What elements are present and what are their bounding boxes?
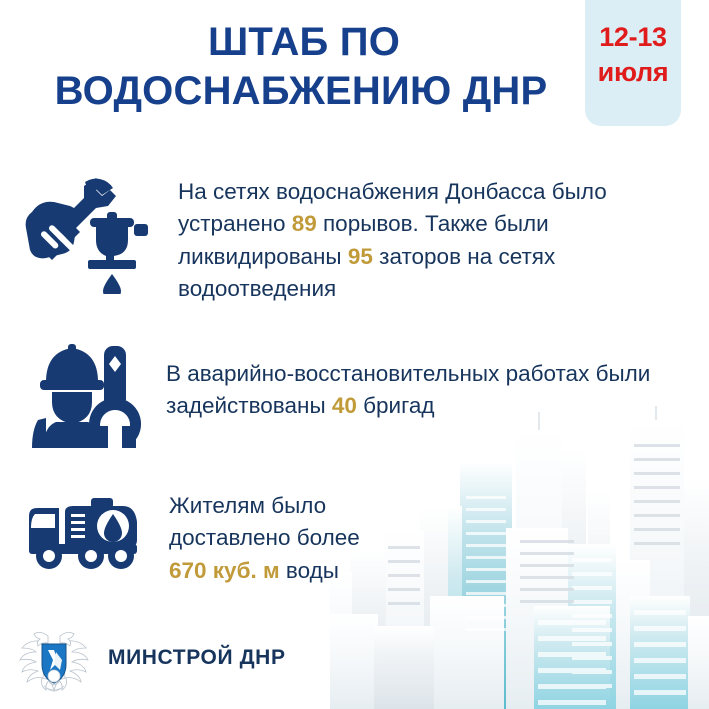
stat-row-water-delivered: Жителям было доставлено более 670 куб. м… — [25, 490, 399, 587]
stat-value-volume: 670 куб. м — [169, 558, 280, 583]
stat-value-brigades: 40 — [332, 393, 357, 418]
worker-wrench-icon — [30, 340, 142, 448]
stat-row-water-network: На сетях водоснабжения Донбасса было уст… — [22, 172, 698, 306]
stat-row-water-delivered-text: Жителям было доставлено более 670 куб. м… — [169, 490, 399, 587]
date-badge-line2: июля — [598, 55, 669, 90]
footer: МИНСТРОЙ ДНР — [16, 620, 286, 696]
stat-value-breaks: 89 — [292, 211, 317, 236]
footer-label: МИНСТРОЙ ДНР — [108, 646, 286, 670]
text-fragment: Жителям было доставлено более — [169, 493, 360, 550]
title-line-1: ШТАБ ПО — [0, 18, 580, 67]
infographic-poster: 12-13 июля ШТАБ ПО ВОДОСНАБЖЕНИЮ ДНР — [0, 0, 709, 709]
page-title: ШТАБ ПО ВОДОСНАБЖЕНИЮ ДНР — [0, 18, 580, 116]
stat-value-blockages: 95 — [348, 244, 373, 269]
dnr-double-headed-eagle-emblem — [16, 620, 92, 696]
stat-row-brigades: В аварийно-восстановительных работах был… — [30, 340, 671, 448]
text-fragment: воды — [280, 558, 339, 583]
text-fragment: бригад — [357, 393, 435, 418]
hand-wrench-faucet-icon — [22, 172, 150, 294]
stat-row-brigades-text: В аварийно-восстановительных работах был… — [166, 340, 671, 423]
date-badge-line1: 12-13 — [599, 20, 667, 55]
water-tanker-truck-icon — [25, 490, 143, 572]
date-badge: 12-13 июля — [585, 0, 681, 126]
stat-row-water-network-text: На сетях водоснабжения Донбасса было уст… — [178, 172, 698, 306]
title-line-2: ВОДОСНАБЖЕНИЮ ДНР — [0, 67, 580, 116]
